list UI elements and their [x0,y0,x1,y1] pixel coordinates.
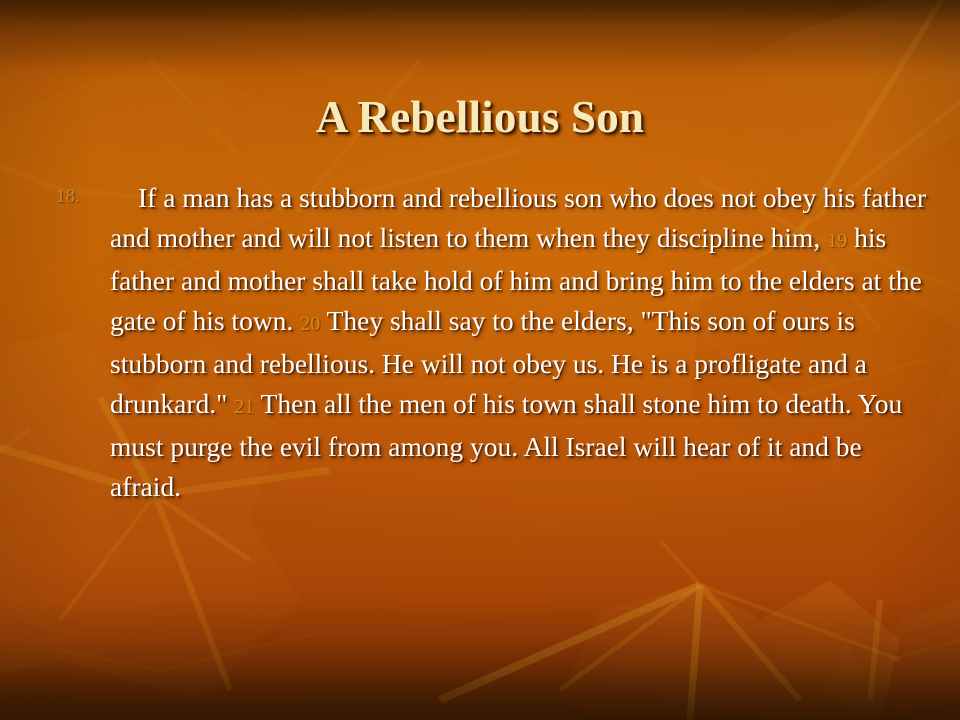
scripture-paragraph: If a man has a stubborn and rebellious s… [110,178,928,506]
verse-number: 21 [234,396,254,418]
scripture-text-run: If a man has a stubborn and rebellious s… [110,182,926,253]
list-item-marker: 18. [56,178,110,206]
slide-body-placeholder: 18. If a man has a stubborn and rebellio… [56,178,928,506]
presentation-slide: A Rebellious Son 18. If a man has a stub… [0,0,960,720]
verse-number: 20 [300,313,320,335]
slide-title: A Rebellious Son [0,94,960,141]
leaf-shape-bottom-left [60,600,330,720]
verse-number: 19 [827,230,847,252]
